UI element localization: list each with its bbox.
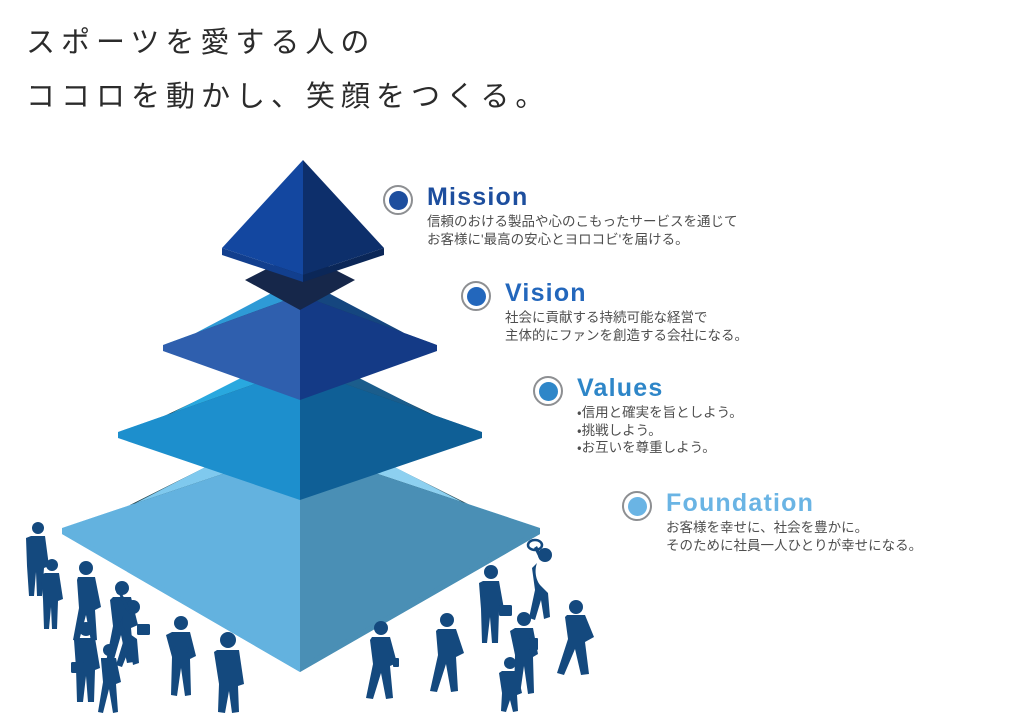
bullet-circle-icon-foundation bbox=[622, 491, 652, 521]
callout-title-values: Values bbox=[577, 374, 743, 402]
callout-description-foundation: お客様を幸せに、社会を豊かに。 そのために社員一人ひとりが幸せになる。 bbox=[666, 519, 922, 554]
person-walking-man-8 bbox=[366, 621, 399, 699]
person-standing-woman-14 bbox=[41, 559, 63, 629]
person-walking-man-13 bbox=[557, 600, 594, 675]
pyramid-illustration bbox=[0, 0, 1024, 713]
person-standing-man-6 bbox=[166, 616, 196, 696]
callout-title-mission: Mission bbox=[427, 183, 738, 211]
callout-description-mission: 信頼のおける製品や心のこもったサービスを通じて お客様に'最高の安心とヨロコビ'… bbox=[427, 213, 738, 248]
person-walking-man-15 bbox=[98, 644, 121, 713]
callout-vision: Vision 社会に貢献する持続可能な経営で 主体的にファンを創造する会社になる… bbox=[461, 279, 748, 344]
person-standing-man-7 bbox=[214, 632, 244, 713]
callout-title-foundation: Foundation bbox=[666, 489, 922, 517]
callout-title-vision: Vision bbox=[505, 279, 748, 307]
pyramid-tier-mission bbox=[222, 160, 384, 310]
callout-values: Values ・信用と確実を旨としよう。 ・挑戦しよう。 ・お互いを尊重しよう。 bbox=[533, 374, 743, 457]
callout-description-values: ・信用と確実を旨としよう。 ・挑戦しよう。 ・お互いを尊重しよう。 bbox=[577, 404, 743, 457]
person-tennis-player-12 bbox=[528, 540, 552, 620]
person-standing-woman-10 bbox=[479, 565, 512, 643]
bullet-circle-icon-vision bbox=[461, 281, 491, 311]
bullet-circle-icon-mission bbox=[383, 185, 413, 215]
person-walking-man-9 bbox=[430, 613, 464, 692]
bullet-circle-icon-values bbox=[533, 376, 563, 406]
callout-mission: Mission 信頼のおける製品や心のこもったサービスを通じて お客様に'最高の… bbox=[383, 183, 738, 248]
callout-description-vision: 社会に貢献する持続可能な経営で 主体的にファンを創造する会社になる。 bbox=[505, 309, 748, 344]
callout-foundation: Foundation お客様を幸せに、社会を豊かに。 そのために社員一人ひとりが… bbox=[622, 489, 922, 554]
